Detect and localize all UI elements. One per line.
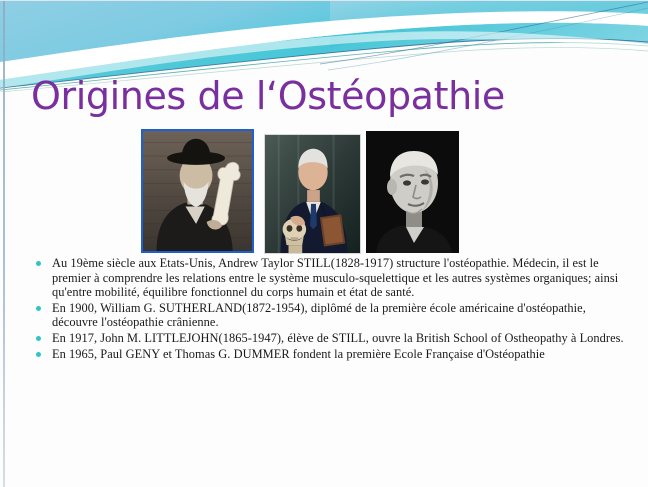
- bullet-dot-icon: [36, 336, 41, 341]
- bullet-dot-icon: [36, 261, 41, 266]
- page-title: Origines de l‘Ostéopathie: [31, 72, 621, 120]
- portrait-andrew-taylor-still[interactable]: [141, 129, 254, 253]
- bullet-text: En 1917, John M. LITTLEJOHN(1865-1947), …: [52, 331, 630, 346]
- portrait-william-garner-sutherland[interactable]: [264, 134, 361, 254]
- list-item: En 1900, William G. SUTHERLAND(1872-1954…: [28, 301, 630, 330]
- slide-top-hairline: [0, 0, 648, 1]
- bullet-dot-icon: [36, 306, 41, 311]
- list-item: En 1917, John M. LITTLEJOHN(1865-1947), …: [28, 331, 630, 346]
- list-item: Au 19ème siècle aux Etats-Unis, Andrew T…: [28, 256, 630, 300]
- bullet-text: En 1965, Paul GENY et Thomas G. DUMMER f…: [52, 347, 630, 362]
- bullet-text: Au 19ème siècle aux Etats-Unis, Andrew T…: [52, 256, 630, 300]
- left-accent-rule: [3, 0, 5, 487]
- portrait-john-martin-littlejohn[interactable]: [366, 131, 459, 253]
- presentation-slide: Origines de l‘Ostéopathie: [0, 0, 648, 487]
- bullet-text: En 1900, William G. SUTHERLAND(1872-1954…: [52, 301, 630, 330]
- list-item: En 1965, Paul GENY et Thomas G. DUMMER f…: [28, 347, 630, 362]
- bullet-dot-icon: [36, 352, 41, 357]
- bullet-list: Au 19ème siècle aux Etats-Unis, Andrew T…: [28, 256, 630, 362]
